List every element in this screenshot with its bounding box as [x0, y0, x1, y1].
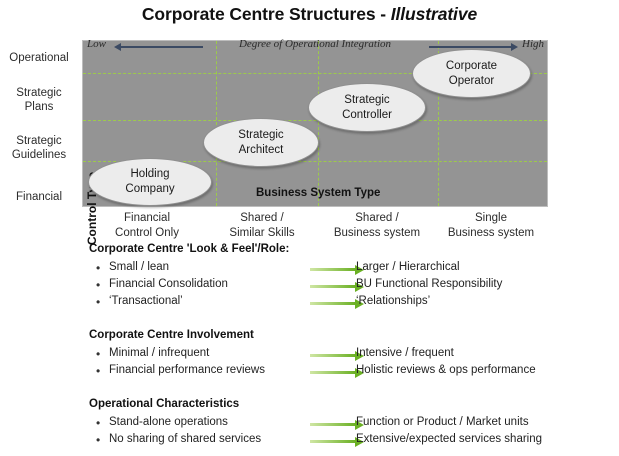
list-item: • No sharing of shared services Extensiv… — [96, 433, 611, 450]
list-item: • Minimal / infrequent Intensive / frequ… — [96, 347, 611, 364]
slide-canvas: Corporate Centre Structures - Illustrati… — [0, 0, 619, 456]
section-heading-involvement: Corporate Centre Involvement — [89, 329, 254, 341]
bubble-label-line1: Strategic — [344, 94, 389, 106]
list-item-left: ‘Transactional’ — [109, 295, 183, 307]
section-heading-look-and-feel: Corporate Centre 'Look & Feel'/Role: — [89, 243, 289, 255]
x-axis-title: Business System Type — [256, 187, 380, 199]
bubble-holding-company[interactable]: Holding Company — [88, 158, 212, 206]
x-tick-shared-business-system: Shared / Business system — [318, 211, 436, 241]
gridline-horizontal-2 — [83, 120, 547, 121]
gridline-vertical-2 — [318, 41, 319, 206]
y-tick-strategic-guidelines: Strategic Guidelines — [0, 134, 78, 162]
list-item: • Small / lean Larger / Hierarchical — [96, 261, 611, 278]
arrow-right-icon — [429, 46, 512, 48]
list-item-right: Function or Product / Market units — [356, 416, 529, 428]
list-item: • ‘Transactional’ ‘Relationships’ — [96, 295, 611, 312]
bubble-label-line2: Controller — [342, 109, 392, 121]
list-item-right: ‘Relationships’ — [356, 295, 430, 307]
list-item-left: Financial performance reviews — [109, 364, 265, 376]
bullet-icon: • — [96, 433, 100, 447]
bubble-label-line1: Holding — [131, 168, 170, 180]
list-item-left: Financial Consolidation — [109, 278, 228, 290]
arrow-right-icon — [310, 354, 356, 357]
bubble-strategic-architect[interactable]: Strategic Architect — [203, 118, 319, 167]
gridline-vertical-1 — [216, 41, 217, 206]
list-item-right: BU Functional Responsibility — [356, 278, 502, 290]
list-item-left: Minimal / infrequent — [109, 347, 209, 359]
list-item-right: Larger / Hierarchical — [356, 261, 460, 273]
list-item: • Stand-alone operations Function or Pro… — [96, 416, 611, 433]
bullet-icon: • — [96, 261, 100, 275]
bullet-icon: • — [96, 295, 100, 309]
bubble-label-line1: Corporate — [446, 60, 497, 72]
matrix-chart: Business System Type Control Type Low De… — [0, 0, 619, 250]
arrow-right-icon — [310, 423, 356, 426]
list-item-left: No sharing of shared services — [109, 433, 261, 445]
arrow-right-icon — [310, 440, 356, 443]
y-tick-financial: Financial — [0, 190, 78, 204]
bubble-corporate-operator[interactable]: Corporate Operator — [412, 49, 531, 98]
bubble-strategic-controller[interactable]: Strategic Controller — [308, 83, 426, 132]
list-item-left: Stand-alone operations — [109, 416, 228, 428]
y-tick-strategic-plans: Strategic Plans — [0, 86, 78, 114]
arrow-right-icon — [310, 285, 356, 288]
list-item: • Financial Consolidation BU Functional … — [96, 278, 611, 295]
bullet-icon: • — [96, 416, 100, 430]
arrow-right-icon — [310, 302, 356, 305]
bubble-label-line2: Operator — [449, 75, 494, 87]
arrow-left-icon — [120, 46, 203, 48]
x-tick-shared-similar-skills: Shared / Similar Skills — [203, 211, 321, 241]
bullet-icon: • — [96, 347, 100, 361]
section-heading-operational-characteristics: Operational Characteristics — [89, 398, 239, 410]
list-item-right: Extensive/expected services sharing — [356, 433, 542, 445]
x-tick-financial-control-only: Financial Control Only — [88, 211, 206, 241]
x-tick-single-business-system: Single Business system — [432, 211, 550, 241]
list-item-right: Intensive / frequent — [356, 347, 454, 359]
list-item: • Financial performance reviews Holistic… — [96, 364, 611, 381]
axis-high-label: High — [522, 38, 544, 50]
arrow-right-icon — [310, 268, 356, 271]
bullet-icon: • — [96, 278, 100, 292]
bubble-label-line1: Strategic — [238, 129, 283, 141]
bullet-icon: • — [96, 364, 100, 378]
bubble-label-line2: Company — [125, 183, 174, 195]
y-tick-operational: Operational — [0, 51, 78, 65]
arrow-right-icon — [310, 371, 356, 374]
list-item-right: Holistic reviews & ops performance — [356, 364, 536, 376]
list-item-left: Small / lean — [109, 261, 169, 273]
bubble-label-line2: Architect — [239, 144, 284, 156]
